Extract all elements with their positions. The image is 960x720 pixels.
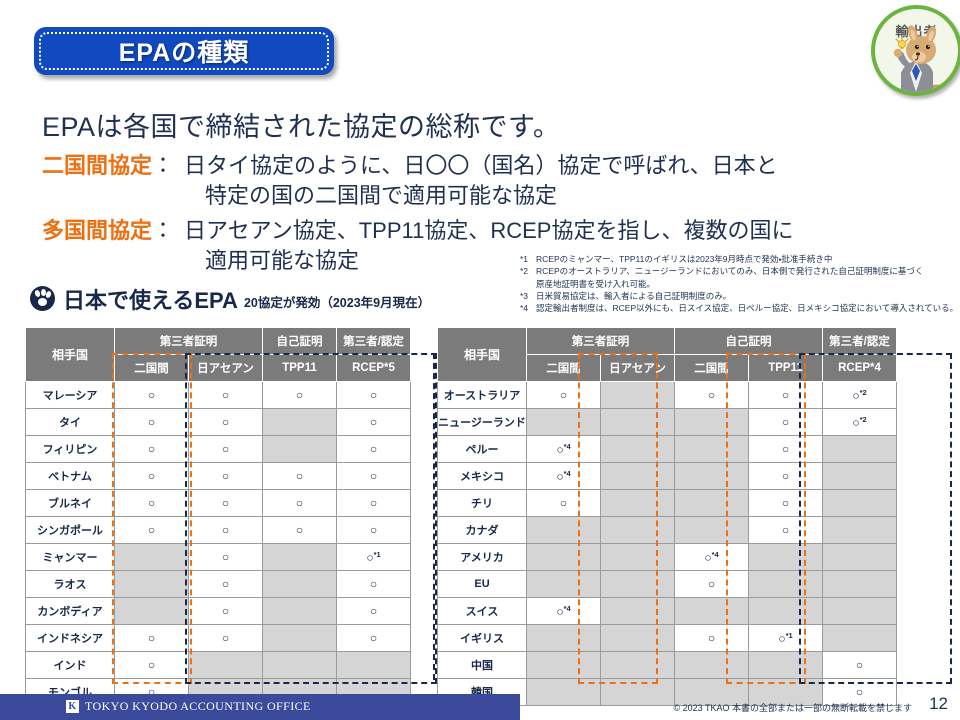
availability-cell-marked: ○ [189,436,263,463]
table-row: インドネシア○○○ [26,625,411,652]
footnote-4: *4認定輸出者制度は、RCEP以外にも、日スイス協定、日ペルー協定、日メキシコ協… [520,302,958,314]
footnote-reference: *4 [712,550,719,559]
availability-cell-marked: ○ [263,490,337,517]
group-header-row: 相手国第三者証明自己証明第三者/認定 [438,328,897,355]
country-name-cell: オーストラリア [438,382,527,409]
left-sub-header-2: 日アセアン [189,355,263,382]
circle-mark-icon: ○ [556,442,563,456]
right-sub-header-1: 二国間 [527,355,601,382]
country-name-cell: 中国 [438,652,527,679]
availability-cell-marked: ○ [115,517,189,544]
group-header-row: 相手国第三者証明自己証明第三者/認定 [26,328,411,355]
usable-epa-heading: 日本で使えるEPA 20協定が発効（2023年9月現在） [30,286,430,312]
availability-cell-marked: ○*4 [527,598,601,625]
circle-mark-icon: ○ [296,496,303,510]
country-name-cell: ニュージーランド [438,409,527,436]
availability-cell-empty [601,409,675,436]
circle-mark-icon: ○ [708,631,715,645]
country-name-cell: タイ [26,409,115,436]
table-row: ミャンマー○○*1 [26,544,411,571]
circle-mark-icon: ○ [148,388,155,402]
circle-mark-icon: ○ [370,604,377,618]
footnote-1: *1RCEPのミャンマー、TPP11のイギリスは2023年9月時点で発効・批准手… [520,253,958,265]
circle-mark-icon: ○ [560,388,567,402]
circle-mark-icon: ○ [148,415,155,429]
circle-mark-icon: ○ [704,550,711,564]
circle-mark-icon: ○ [148,523,155,537]
bilateral-description-line1: 日タイ協定のように、日〇〇（国名）協定で呼ばれ、日本と [184,153,778,178]
availability-cell-marked: ○ [749,436,823,463]
availability-cell-marked: ○ [189,382,263,409]
country-name-cell: ベトナム [26,463,115,490]
circle-mark-icon: ○ [782,523,789,537]
lead-sentence: EPAは各国で締結された協定の総称です。 [42,105,560,144]
circle-mark-icon: ○ [222,442,229,456]
country-name-cell: カナダ [438,517,527,544]
availability-cell-marked: ○ [527,490,601,517]
footnote-reference: *1 [786,631,793,640]
circle-mark-icon: ○ [370,577,377,591]
right-sub-header-3: 二国間 [675,355,749,382]
availability-cell-empty [189,652,263,679]
availability-cell-marked: ○ [527,382,601,409]
country-name-cell: カンボディア [26,598,115,625]
logo-mark-icon: K [66,700,79,713]
footnote-marker: *3 [520,290,536,302]
left-sub-header-4: RCEP*5 [337,355,411,382]
availability-cell-marked: ○*4 [527,436,601,463]
multilateral-description-line2: 適用可能な協定 [205,243,359,275]
availability-cell-marked: ○ [823,652,897,679]
availability-cell-marked: ○ [675,382,749,409]
availability-cell-empty [527,679,601,706]
bilateral-colon: ： [152,153,174,178]
right-group-header-0: 相手国 [438,328,527,382]
availability-cell-empty [601,382,675,409]
circle-mark-icon: ○ [222,604,229,618]
bilateral-term-label: 二国間協定 [42,153,152,178]
availability-cell-empty [115,571,189,598]
country-name-cell: インド [26,652,115,679]
footnote-2: *2RCEPのオーストラリア、ニュージーランドにおいてのみ、日本側で発行された自… [520,265,958,290]
footnote-reference: *1 [374,550,381,559]
availability-cell-empty [115,544,189,571]
footnote-reference: *4 [564,442,571,451]
country-name-cell: フィリピン [26,436,115,463]
availability-cell-empty [601,598,675,625]
footnote-text: RCEPのミャンマー、TPP11のイギリスは2023年9月時点で発効・批准手続き… [536,254,832,264]
table-row: ベトナム○○○○ [26,463,411,490]
availability-cell-marked: ○ [263,517,337,544]
availability-cell-marked: ○ [115,409,189,436]
availability-cell-empty [263,436,337,463]
availability-cell-marked: ○ [337,436,411,463]
availability-cell-marked: ○ [675,625,749,652]
table-row: イギリス○○*1 [438,625,897,652]
circle-mark-icon: ○ [782,469,789,483]
availability-cell-marked: ○ [263,463,337,490]
table-row: フィリピン○○○ [26,436,411,463]
availability-cell-marked: ○ [337,571,411,598]
availability-cell-marked: ○ [115,463,189,490]
availability-cell-empty [675,409,749,436]
multilateral-agreement-row: 多国間協定：日アセアン協定、TPP11協定、RCEP協定を指し、複数の国に [42,213,793,245]
availability-cell-empty [527,517,601,544]
circle-mark-icon: ○ [222,469,229,483]
availability-cell-marked: ○*4 [675,544,749,571]
footnote-text-continued: 原産地証明書を受け入れ可能。 [520,278,958,290]
availability-cell-empty [823,571,897,598]
availability-cell-empty [601,571,675,598]
table-row: ラオス○○ [26,571,411,598]
availability-cell-empty [675,463,749,490]
slide-title: EPAの種類 [34,27,334,75]
footnote-text: RCEPのオーストラリア、ニュージーランドにおいてのみ、日本側で発行された自己証… [536,266,923,276]
country-name-cell: ラオス [26,571,115,598]
footnote-reference: *4 [564,469,571,478]
table-row: インド○ [26,652,411,679]
availability-cell-marked: ○ [675,571,749,598]
availability-cell-empty [823,490,897,517]
availability-cell-empty [601,517,675,544]
table-row: 中国○ [438,652,897,679]
availability-cell-empty [601,652,675,679]
availability-cell-empty [675,517,749,544]
availability-cell-empty [823,544,897,571]
availability-cell-empty [263,625,337,652]
footnotes-block: *1RCEPのミャンマー、TPP11のイギリスは2023年9月時点で発効・批准手… [520,253,958,315]
paw-icon [30,286,55,311]
availability-cell-empty [527,571,601,598]
availability-cell-empty [115,598,189,625]
circle-mark-icon: ○ [148,469,155,483]
country-name-cell: EU [438,571,527,598]
availability-cell-empty [263,652,337,679]
country-name-cell: メキシコ [438,463,527,490]
availability-cell-empty [263,571,337,598]
left-sub-header-1: 二国間 [115,355,189,382]
circle-mark-icon: ○ [782,442,789,456]
circle-mark-icon: ○ [222,523,229,537]
availability-cell-marked: ○ [189,544,263,571]
availability-cell-marked: ○ [749,517,823,544]
right-sub-header-5: RCEP*4 [823,355,897,382]
circle-mark-icon: ○ [370,469,377,483]
availability-cell-empty [675,490,749,517]
left-group-header-3: 第三者/認定 [337,328,411,355]
availability-cell-marked: ○ [337,409,411,436]
availability-cell-marked: ○ [337,598,411,625]
country-name-cell: スイス [438,598,527,625]
availability-cell-empty [601,463,675,490]
availability-cell-marked: ○ [337,463,411,490]
usable-epa-subtitle: 20協定が発効（2023年9月現在） [244,292,430,311]
availability-cell-marked: ○*2 [823,409,897,436]
table-row: メキシコ○*4○ [438,463,897,490]
availability-cell-empty [527,652,601,679]
availability-cell-empty [601,436,675,463]
availability-cell-marked: ○ [749,463,823,490]
availability-cell-marked: ○ [189,409,263,436]
availability-cell-empty [823,625,897,652]
circle-mark-icon: ○ [222,550,229,564]
availability-cell-marked: ○ [749,490,823,517]
availability-cell-empty [527,409,601,436]
epa-table-left: 相手国第三者証明自己証明第三者/認定二国間日アセアンTPP11RCEP*5 マレ… [25,327,411,706]
circle-mark-icon: ○ [366,550,373,564]
country-name-cell: アメリカ [438,544,527,571]
availability-cell-marked: ○ [337,382,411,409]
circle-mark-icon: ○ [782,415,789,429]
availability-cell-marked: ○*2 [823,382,897,409]
table-row: EU○ [438,571,897,598]
multilateral-term-label: 多国間協定 [42,218,152,243]
circle-mark-icon: ○ [148,496,155,510]
copyright-notice: © 2023 TKAO 本書の全部または一部の無断転載を禁じます [674,701,913,714]
availability-cell-empty [601,679,675,706]
table-row: シンガポール○○○○ [26,517,411,544]
epa-table-left-body: マレーシア○○○○タイ○○○フィリピン○○○ベトナム○○○○ブルネイ○○○○シン… [26,382,411,706]
availability-cell-empty [601,625,675,652]
availability-cell-marked: ○ [337,490,411,517]
right-sub-header-2: 日アセアン [601,355,675,382]
circle-mark-icon: ○ [556,604,563,618]
availability-cell-empty [601,490,675,517]
availability-cell-marked: ○ [115,382,189,409]
availability-cell-marked: ○*1 [337,544,411,571]
circle-mark-icon: ○ [222,496,229,510]
availability-cell-empty [823,517,897,544]
table-row: アメリカ○*4 [438,544,897,571]
availability-cell-empty [675,598,749,625]
circle-mark-icon: ○ [556,469,563,483]
circle-mark-icon: ○ [560,496,567,510]
country-name-cell: イギリス [438,625,527,652]
circle-mark-icon: ○ [148,631,155,645]
availability-cell-empty [823,463,897,490]
availability-cell-marked: ○ [337,625,411,652]
availability-cell-marked: ○ [749,409,823,436]
circle-mark-icon: ○ [852,388,859,402]
availability-cell-empty [675,436,749,463]
left-group-header-2: 自己証明 [263,328,337,355]
circle-mark-icon: ○ [852,415,859,429]
availability-cell-marked: ○ [263,382,337,409]
availability-cell-empty [675,652,749,679]
circle-mark-icon: ○ [782,388,789,402]
circle-mark-icon: ○ [782,496,789,510]
availability-cell-empty [749,571,823,598]
table-row: カンボディア○○ [26,598,411,625]
right-group-header-3: 第三者/認定 [823,328,897,355]
circle-mark-icon: ○ [296,523,303,537]
country-name-cell: ミャンマー [26,544,115,571]
availability-cell-empty [263,598,337,625]
table-row: チリ○○ [438,490,897,517]
footnote-text: 認定輸出者制度は、RCEP以外にも、日スイス協定、日ペルー協定、日メキシコ協定に… [536,303,958,313]
table-row: タイ○○○ [26,409,411,436]
footnote-marker: *2 [520,265,536,277]
circle-mark-icon: ○ [370,523,377,537]
multilateral-colon: ： [152,218,174,243]
epa-table-right-body: オーストラリア○○○○*2ニュージーランド○○*2ペルー○*4○メキシコ○*4○… [438,382,897,706]
right-sub-header-4: TPP11 [749,355,823,382]
availability-cell-empty [601,544,675,571]
country-name-cell: マレーシア [26,382,115,409]
circle-mark-icon: ○ [370,631,377,645]
availability-cell-empty [749,598,823,625]
availability-cell-marked: ○ [115,436,189,463]
epa-table-right: 相手国第三者証明自己証明第三者/認定二国間日アセアン二国間TPP11RCEP*4… [437,327,897,706]
availability-cell-marked: ○ [189,625,263,652]
left-group-header-0: 相手国 [26,328,115,382]
circle-mark-icon: ○ [370,415,377,429]
kangaroo-character-icon [875,9,958,92]
circle-mark-icon: ○ [148,442,155,456]
epa-table-right-head: 相手国第三者証明自己証明第三者/認定二国間日アセアン二国間TPP11RCEP*4 [438,328,897,382]
exporter-character-badge: 輸出者 [871,5,960,96]
availability-cell-marked: ○*1 [749,625,823,652]
availability-cell-empty [823,598,897,625]
availability-cell-marked: ○ [749,382,823,409]
page-number: 12 [929,694,948,714]
right-group-header-2: 自己証明 [675,328,823,355]
table-row: ペルー○*4○ [438,436,897,463]
circle-mark-icon: ○ [222,388,229,402]
availability-cell-marked: ○ [189,463,263,490]
table-row: カナダ○ [438,517,897,544]
circle-mark-icon: ○ [370,388,377,402]
circle-mark-icon: ○ [708,388,715,402]
availability-cell-marked: ○*4 [527,463,601,490]
footnote-reference: *2 [860,415,867,424]
country-name-cell: インドネシア [26,625,115,652]
availability-cell-empty [527,625,601,652]
circle-mark-icon: ○ [296,388,303,402]
table-row: オーストラリア○○○○*2 [438,382,897,409]
circle-mark-icon: ○ [222,631,229,645]
left-sub-header-3: TPP11 [263,355,337,382]
footnote-3: *3日米貿易協定は、輸入者による自己証明制度のみ。 [520,290,958,302]
availability-cell-marked: ○ [189,517,263,544]
circle-mark-icon: ○ [708,577,715,591]
country-name-cell: ペルー [438,436,527,463]
table-row: ニュージーランド○○*2 [438,409,897,436]
usable-epa-title: 日本で使えるEPA [63,290,238,312]
bilateral-agreement-row: 二国間協定：日タイ協定のように、日〇〇（国名）協定で呼ばれ、日本と [42,148,778,180]
availability-cell-empty [823,436,897,463]
country-name-cell: ブルネイ [26,490,115,517]
table-row: マレーシア○○○○ [26,382,411,409]
circle-mark-icon: ○ [370,496,377,510]
availability-cell-empty [263,409,337,436]
availability-cell-marked: ○ [115,625,189,652]
availability-cell-marked: ○ [189,490,263,517]
circle-mark-icon: ○ [778,631,785,645]
footnote-reference: *4 [564,604,571,613]
table-row: スイス○*4 [438,598,897,625]
footnote-text: 日米貿易協定は、輸入者による自己証明制度のみ。 [536,291,731,301]
country-name-cell: シンガポール [26,517,115,544]
availability-cell-marked: ○ [337,517,411,544]
footnote-reference: *2 [860,388,867,397]
slide-title-banner: EPAの種類 [34,27,334,75]
availability-cell-marked: ○ [115,490,189,517]
footnote-marker: *4 [520,302,536,314]
right-group-header-1: 第三者証明 [527,328,675,355]
company-logo: K TOKYO KYODO ACCOUNTING OFFICE [66,699,311,714]
availability-cell-empty [527,544,601,571]
circle-mark-icon: ○ [296,469,303,483]
availability-cell-empty [749,544,823,571]
circle-mark-icon: ○ [370,442,377,456]
availability-cell-marked: ○ [115,652,189,679]
table-row: ブルネイ○○○○ [26,490,411,517]
availability-cell-empty [749,652,823,679]
left-group-header-1: 第三者証明 [115,328,263,355]
circle-mark-icon: ○ [856,685,863,699]
availability-cell-marked: ○ [189,571,263,598]
circle-mark-icon: ○ [222,415,229,429]
circle-mark-icon: ○ [148,658,155,672]
availability-cell-empty [263,544,337,571]
country-name-cell: チリ [438,490,527,517]
availability-cell-marked: ○ [189,598,263,625]
circle-mark-icon: ○ [856,658,863,672]
epa-table-left-head: 相手国第三者証明自己証明第三者/認定二国間日アセアンTPP11RCEP*5 [26,328,411,382]
company-name: TOKYO KYODO ACCOUNTING OFFICE [85,699,311,714]
bilateral-description-line2: 特定の国の二国間で適用可能な協定 [205,178,557,210]
circle-mark-icon: ○ [222,577,229,591]
availability-cell-empty [337,652,411,679]
footnote-marker: *1 [520,253,536,265]
multilateral-description-line1: 日アセアン協定、TPP11協定、RCEP協定を指し、複数の国に [184,218,793,243]
